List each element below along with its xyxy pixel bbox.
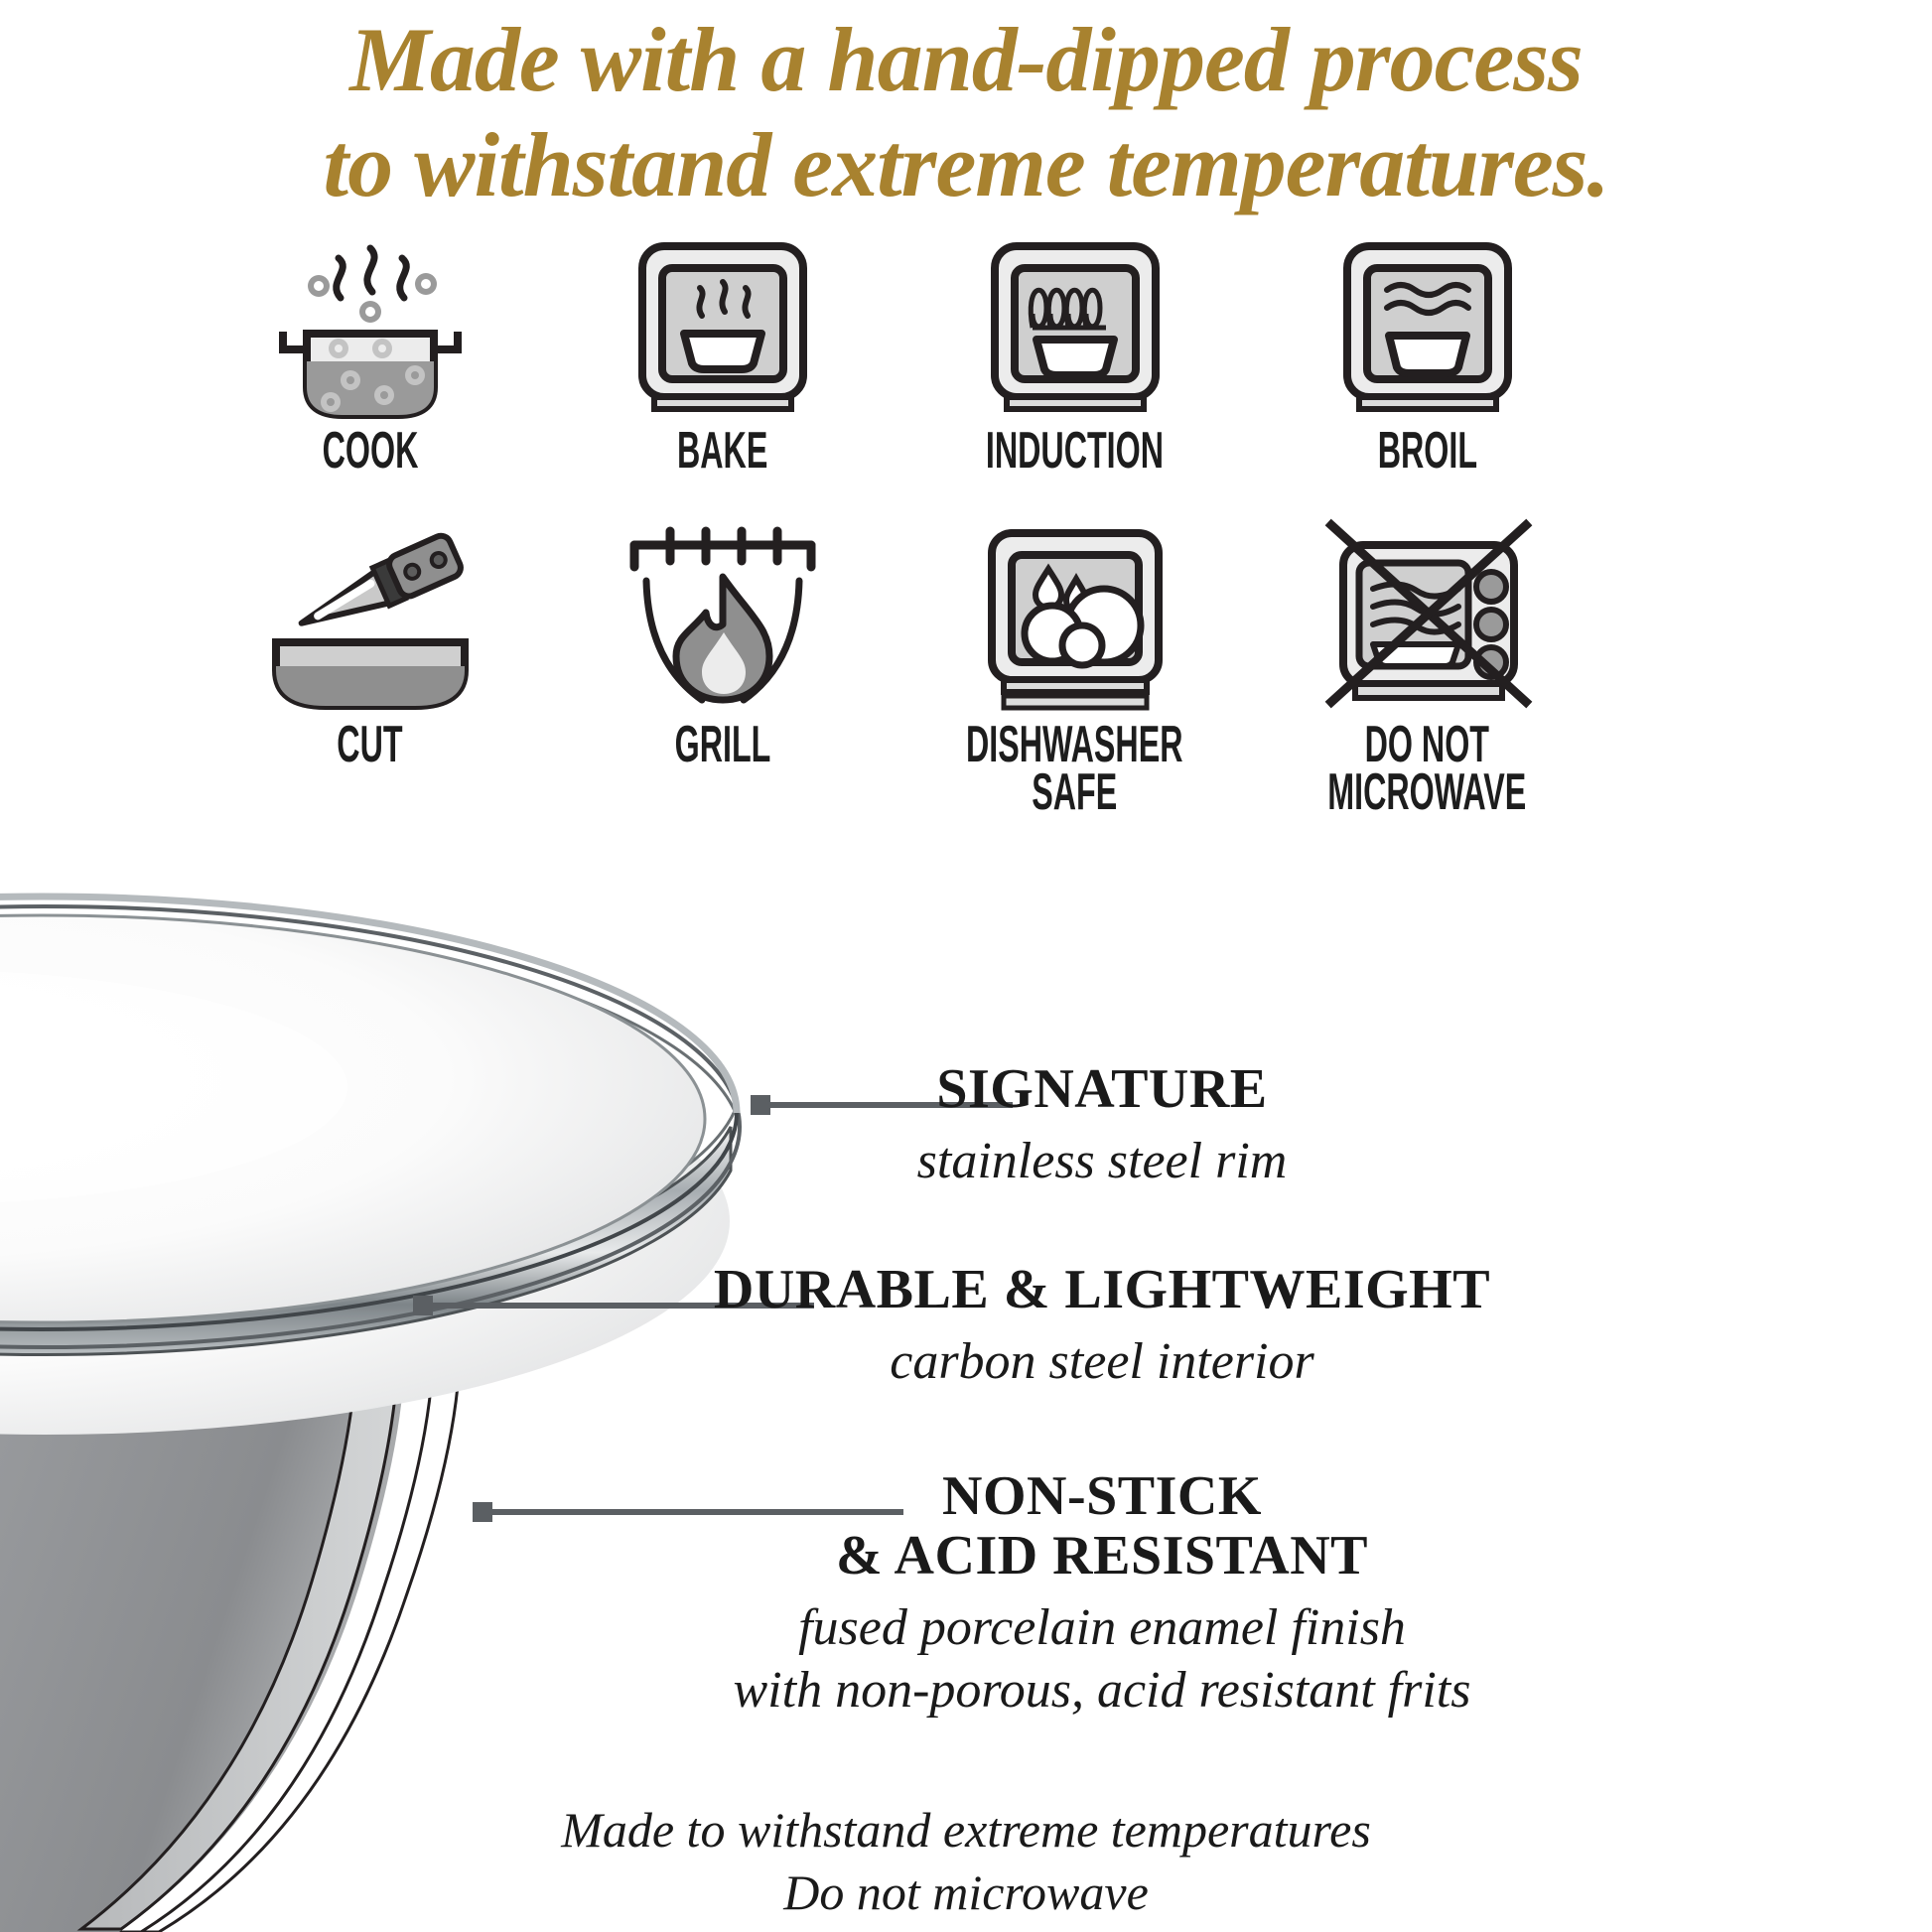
callout-nonstick-title-line-2: & ACID RESISTANT: [616, 1527, 1588, 1587]
icon-row-2: CUT: [194, 515, 1603, 817]
icon-label-induction: INDUCTION: [986, 428, 1164, 476]
headline-line-2: to withstand extreme temperatures.: [0, 119, 1932, 210]
icon-cell-bake: BAKE: [546, 236, 898, 476]
callout-signature-title: SIGNATURE: [755, 1060, 1449, 1120]
callout-signature: SIGNATURE stainless steel rim: [755, 1060, 1449, 1192]
callout-durable-subtitle: carbon steel interior: [616, 1330, 1588, 1393]
icon-cell-cook: COOK: [194, 236, 546, 476]
footnote-line-2: Do not microwave: [470, 1862, 1462, 1924]
callout-durable: DURABLE & LIGHTWEIGHT carbon steel inter…: [616, 1261, 1588, 1393]
callout-nonstick: NON-STICK & ACID RESISTANT fused porcela…: [616, 1467, 1588, 1723]
leader-knob-nonstick: [473, 1502, 492, 1522]
icon-label-grill: GRILL: [674, 722, 770, 769]
icon-label-cook: COOK: [322, 428, 418, 476]
icon-cell-do-not-microwave: DO NOT MICROWAVE: [1251, 515, 1603, 817]
callout-signature-subtitle: stainless steel rim: [755, 1130, 1449, 1192]
icon-row-1: COOK BAKE: [194, 236, 1603, 476]
callout-nonstick-subtitle-line-2: with non-porous, acid resistant frits: [616, 1659, 1588, 1722]
oven-induction-coil-icon: [961, 236, 1189, 420]
usage-icon-grid: COOK BAKE: [194, 236, 1603, 816]
icon-cell-dishwasher-safe: DISHWASHER SAFE: [898, 515, 1251, 817]
pot-boiling-icon: [256, 236, 484, 420]
icon-cell-induction: INDUCTION: [898, 236, 1251, 476]
callout-nonstick-title-line-1: NON-STICK: [616, 1467, 1588, 1527]
icon-cell-grill: GRILL: [546, 515, 898, 817]
leader-knob-durable: [413, 1296, 433, 1315]
knife-over-dish-icon: [256, 515, 484, 714]
page-headline: Made with a hand-dipped process to withs…: [0, 14, 1932, 210]
dishwasher-plates-droplets-icon: [961, 515, 1189, 714]
headline-line-1: Made with a hand-dipped process: [349, 9, 1583, 110]
icon-label-dishwasher-safe: DISHWASHER SAFE: [966, 722, 1183, 817]
icon-cell-cut: CUT: [194, 515, 546, 817]
icon-label-bake: BAKE: [677, 428, 767, 476]
callout-durable-title: DURABLE & LIGHTWEIGHT: [616, 1261, 1588, 1320]
oven-broil-waves-icon: [1313, 236, 1542, 420]
icon-label-cut: CUT: [337, 722, 402, 769]
icon-label-do-not-microwave: DO NOT MICROWAVE: [1327, 722, 1526, 817]
callout-nonstick-subtitle-line-1: fused porcelain enamel finish: [616, 1596, 1588, 1659]
icon-label-broil: BROIL: [1377, 428, 1476, 476]
icon-cell-broil: BROIL: [1251, 236, 1603, 476]
footnote: Made to withstand extreme temperatures D…: [470, 1799, 1462, 1924]
footnote-line-1: Made to withstand extreme temperatures: [470, 1799, 1462, 1862]
oven-bake-icon: [609, 236, 837, 420]
grill-grate-flame-icon: [609, 515, 837, 714]
microwave-crossed-out-icon: [1313, 515, 1542, 714]
